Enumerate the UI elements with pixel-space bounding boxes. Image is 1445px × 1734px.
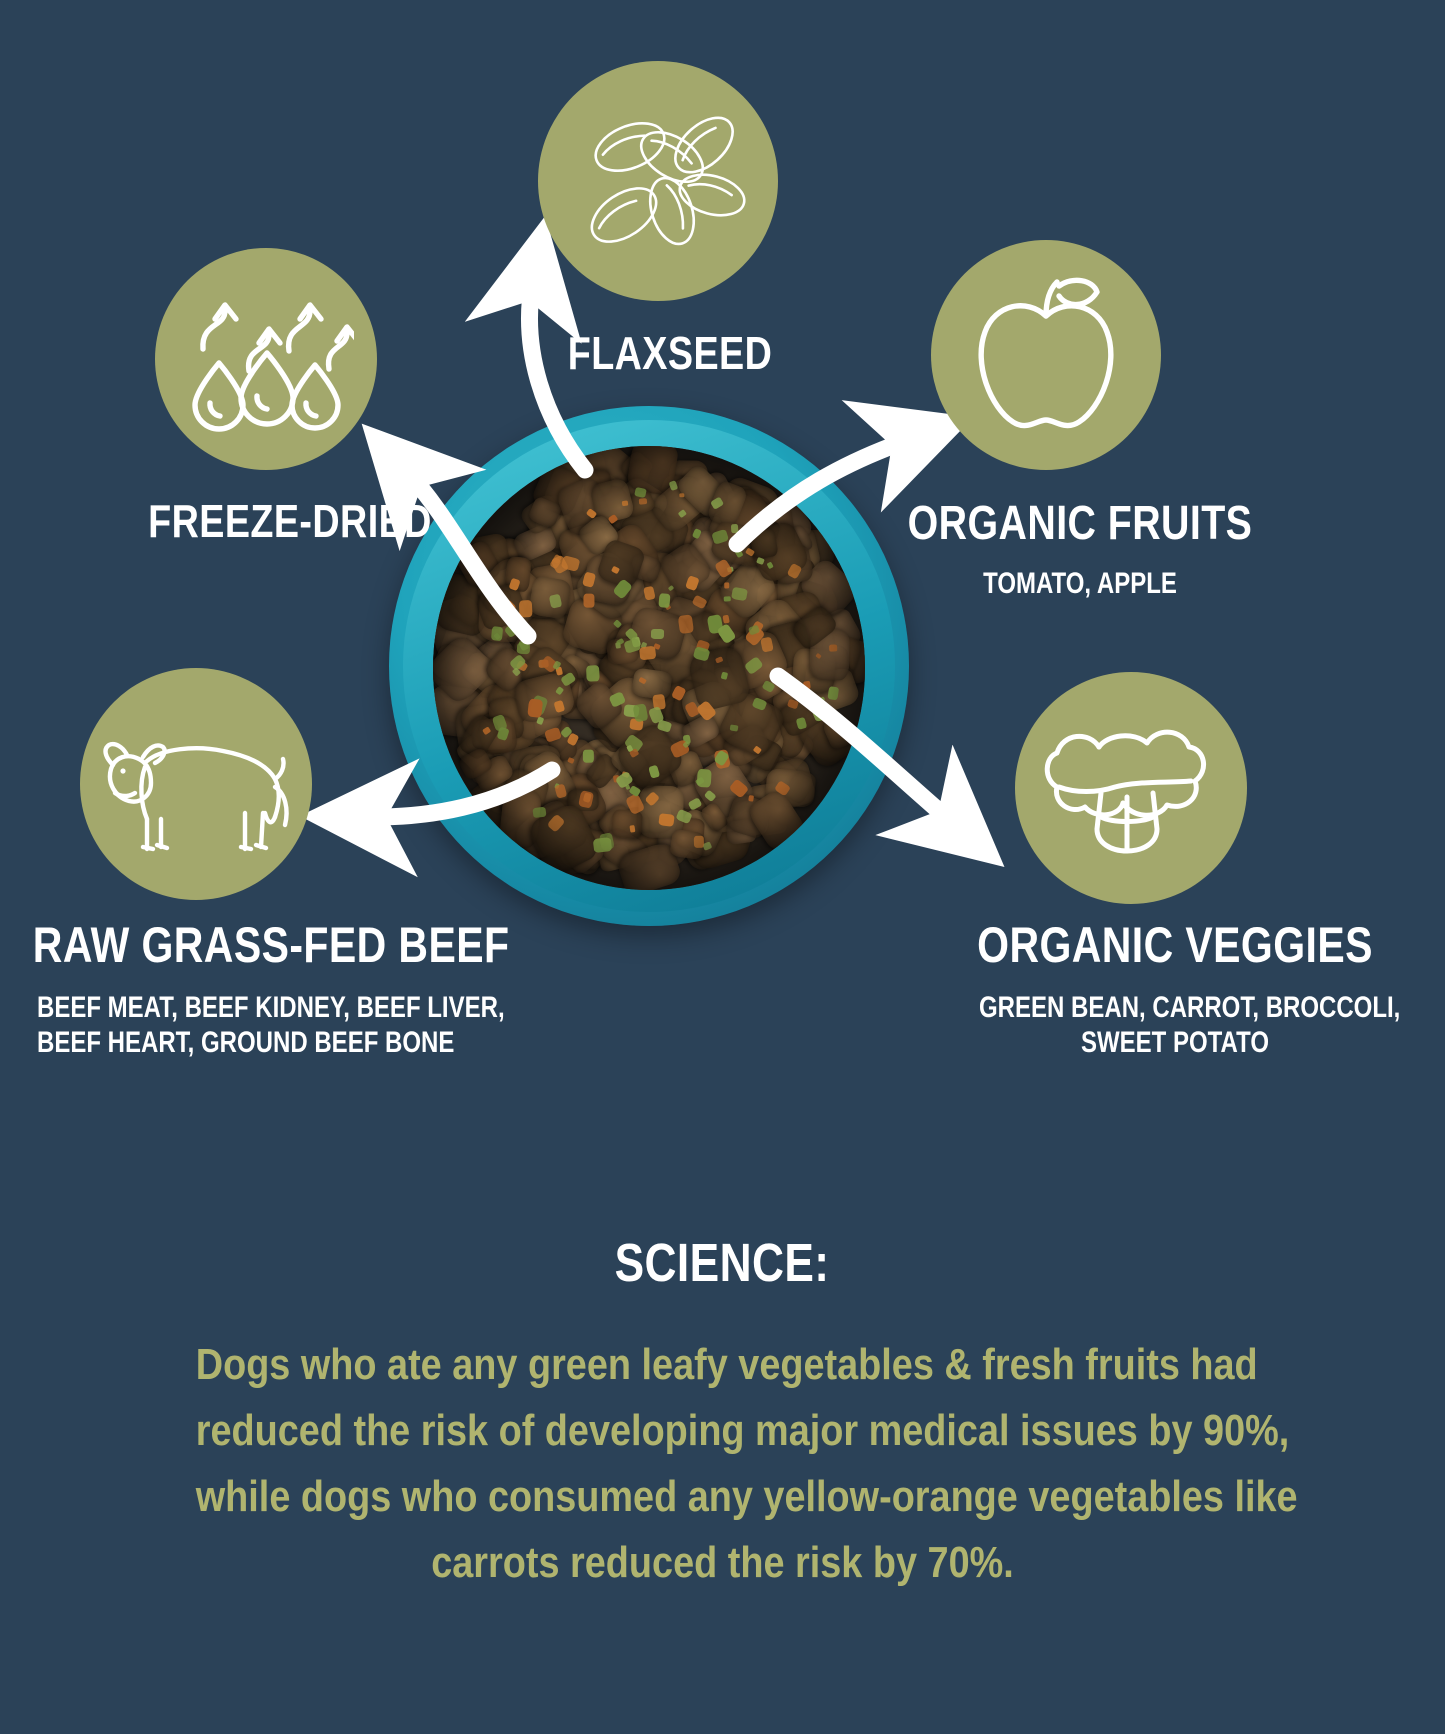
raw-beef-subtitle-line2: BEEF HEART, GROUND BEEF BONE [37,1025,373,1060]
science-heading: SCIENCE: [615,1236,830,1290]
label-organic-fruits: ORGANIC FRUITS TOMATO, APPLE [845,500,1315,601]
circle-raw-grass-fed-beef [80,668,312,900]
flaxseed-title: FLAXSEED [506,330,834,376]
seeds-icon [568,99,748,264]
raw-beef-subtitle-line1: BEEF MEAT, BEEF KIDNEY, BEEF LIVER, [37,990,373,1025]
circle-freeze-dried [155,248,377,470]
label-organic-veggies: ORGANIC VEGGIES GREEN BEAN, CARROT, BROC… [930,920,1420,1061]
freeze-dried-title: FREEZE-DRIED [101,498,478,544]
label-raw-grass-fed-beef: RAW GRASS-FED BEEF BEEF MEAT, BEEF KIDNE… [0,920,415,1061]
apple-icon [961,268,1131,443]
water-droplets-evaporation-icon [179,277,354,442]
cow-icon [99,709,294,859]
organic-veggies-subtitle-line1: GREEN BEAN, CARROT, BROCCOLI, [979,990,1371,1025]
circle-flaxseed [538,61,778,301]
circle-organic-fruits [931,240,1161,470]
science-body-line: while dogs who consumed any yellow-orang… [196,1464,1250,1530]
broccoli-icon [1041,701,1221,876]
science-body-line: reduced the risk of developing major med… [196,1398,1250,1464]
circle-organic-veggies [1015,672,1247,904]
infographic-canvas: FLAXSEED FREEZE-DRIED ORGANIC FRUITS TOM… [0,0,1445,1734]
science-body: Dogs who ate any green leafy vegetables … [110,1332,1335,1596]
science-heading-wrap: SCIENCE: [0,1236,1445,1290]
science-body-line: carrots reduced the risk by 70%. [196,1530,1250,1596]
organic-veggies-subtitle-line2: SWEET POTATO [979,1025,1371,1060]
label-flaxseed: FLAXSEED [470,330,870,376]
organic-fruits-title: ORGANIC FRUITS [887,500,1272,548]
raw-beef-title: RAW GRASS-FED BEEF [33,920,377,970]
organic-veggies-title: ORGANIC VEGGIES [974,920,1376,970]
dog-food-bowl [389,406,909,926]
science-body-line: Dogs who ate any green leafy vegetables … [196,1332,1250,1398]
label-freeze-dried: FREEZE-DRIED [60,498,520,544]
organic-fruits-subtitle: TOMATO, APPLE [892,566,1268,601]
